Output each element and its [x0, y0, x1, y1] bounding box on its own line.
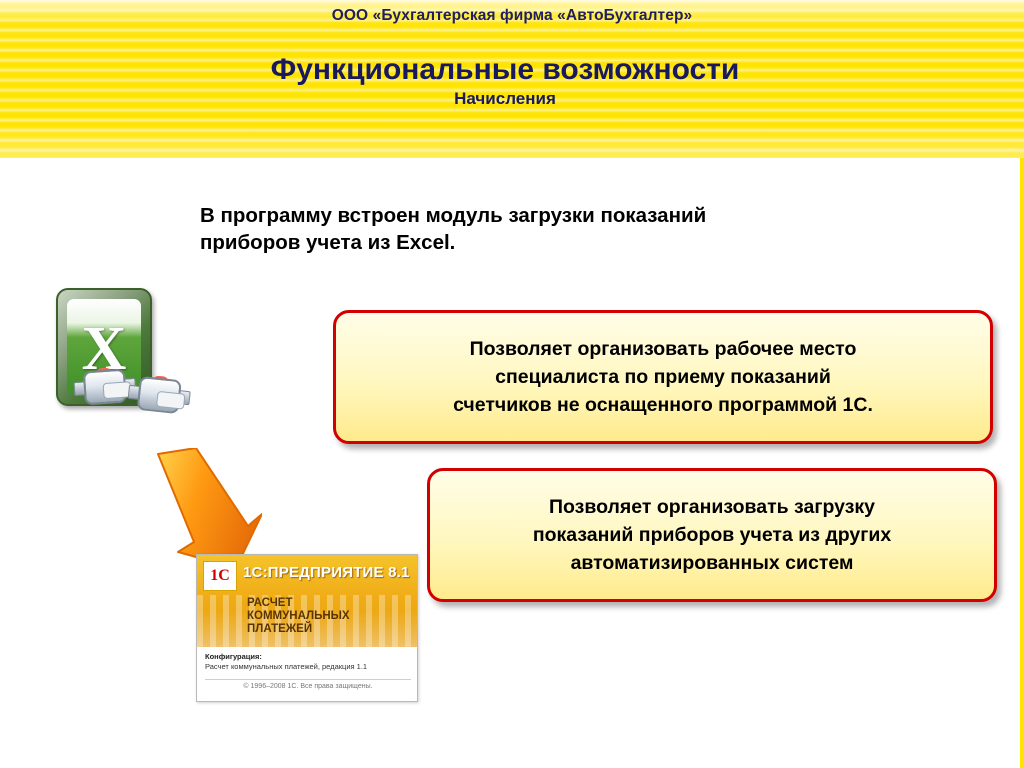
meter-body-2 — [137, 376, 182, 414]
right-vertical-rule — [1020, 158, 1024, 768]
onec-config-label: Конфигурация: — [205, 652, 262, 661]
onec-box-subtitle: РАСЧЕТ КОММУНАЛЬНЫХ ПЛАТЕЖЕЙ — [247, 597, 350, 636]
meter-dial-2 — [156, 391, 186, 410]
orange-down-arrow — [152, 448, 262, 568]
onec-box-top: 1С 1С:ПРЕДПРИЯТИЕ 8.1 РАСЧЕТ КОММУНАЛЬНЫ… — [197, 555, 418, 647]
water-meter-icon-2 — [126, 371, 192, 423]
intro-line-2: приборов учета из Excel. — [200, 231, 455, 254]
meter-body — [83, 369, 127, 406]
onec-logo: 1С — [203, 561, 237, 591]
callout-1-line-1: Позволяет организовать рабочее место — [358, 335, 968, 363]
intro-paragraph: В программу встроен модуль загрузки пока… — [200, 202, 800, 257]
callout-2-line-1: Позволяет организовать загрузку — [452, 493, 972, 521]
callout-2-line-3: автоматизированных систем — [452, 549, 972, 577]
callout-1-line-3: счетчиков не оснащенного программой 1С. — [358, 391, 968, 419]
callout-bubble-2: Позволяет организовать загрузку показани… — [427, 468, 997, 602]
onec-config-text: Расчет коммунальных платежей, редакция 1… — [205, 662, 367, 671]
slide-canvas: ООО «Бухгалтерская фирма «АвтоБухгалтер»… — [0, 0, 1024, 768]
onec-divider — [205, 679, 411, 680]
onec-box-title: 1С:ПРЕДПРИЯТИЕ 8.1 — [243, 564, 410, 581]
excel-meters-illustration: X — [44, 288, 210, 448]
onec-sub-line-2: КОММУНАЛЬНЫХ — [247, 610, 350, 622]
callout-1-line-2: специалиста по приему показаний — [358, 363, 968, 391]
page-title: Функциональные возможности — [0, 53, 1010, 87]
onec-sub-line-3: ПЛАТЕЖЕЙ — [247, 623, 312, 635]
intro-line-1: В программу встроен модуль загрузки пока… — [200, 204, 706, 227]
onec-product-box: 1С 1С:ПРЕДПРИЯТИЕ 8.1 РАСЧЕТ КОММУНАЛЬНЫ… — [196, 554, 418, 702]
onec-sub-line-1: РАСЧЕТ — [247, 597, 292, 609]
onec-copyright: © 1996–2008 1С. Все права защищены. — [197, 683, 418, 690]
callout-2-line-2: показаний приборов учета из других — [452, 521, 972, 549]
page-subtitle: Начисления — [0, 89, 1010, 109]
callout-bubble-1: Позволяет организовать рабочее место спе… — [333, 310, 993, 444]
company-name: ООО «Бухгалтерская фирма «АвтоБухгалтер» — [0, 7, 1024, 25]
